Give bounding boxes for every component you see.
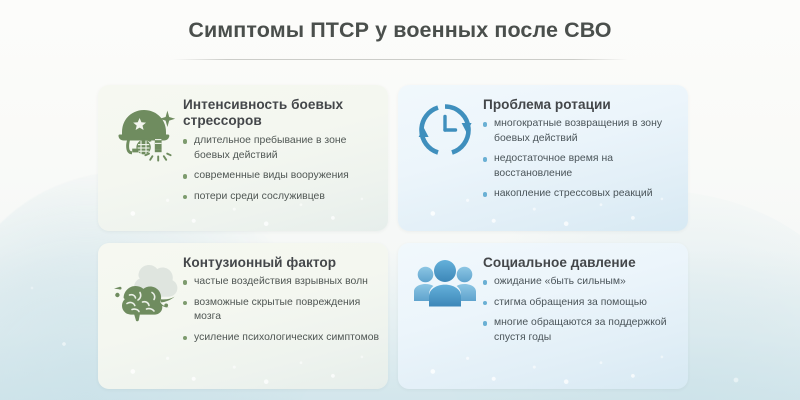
card-social-pressure[interactable]: Социальное давление ожидание «быть сильн… xyxy=(398,243,688,389)
card-heading: Проблема ротации xyxy=(483,97,680,113)
list-item: многие обращаются за поддержкой спустя г… xyxy=(483,316,680,345)
clock-rotation-icon xyxy=(407,95,483,171)
brain-blast-icon xyxy=(107,253,183,329)
card-heading: Контузионный фактор xyxy=(183,255,380,271)
card-body: Контузионный фактор частые воздействия в… xyxy=(183,253,380,345)
list-item: частые воздействия взрывных волн xyxy=(183,275,380,290)
military-helmet-icon xyxy=(107,95,183,171)
card-combat-stressors[interactable]: Интенсивность боевых стрессоров длительн… xyxy=(98,85,388,231)
list-item: многократные возвращения в зону боевых д… xyxy=(483,117,680,146)
list-item: недостаточное время на восстановление xyxy=(483,152,680,181)
card-body: Проблема ротации многократные возвращени… xyxy=(483,95,680,202)
page-title: Симптомы ПТСР у военных после СВО xyxy=(0,18,800,43)
card-body: Социальное давление ожидание «быть сильн… xyxy=(483,253,680,345)
list-item: накопление стрессовых реакций xyxy=(483,187,680,202)
people-group-icon xyxy=(407,253,483,329)
card-bullet-list: ожидание «быть сильным» стигма обращения… xyxy=(483,275,680,345)
card-body: Интенсивность боевых стрессоров длительн… xyxy=(183,95,380,204)
list-item: потери среди сослуживцев xyxy=(183,190,380,205)
list-item: возможные скрытые повреждения мозга xyxy=(183,296,380,325)
card-bullet-list: многократные возвращения в зону боевых д… xyxy=(483,117,680,202)
card-heading: Интенсивность боевых стрессоров xyxy=(183,97,380,129)
slide-header: Симптомы ПТСР у военных после СВО xyxy=(0,0,800,68)
card-rotation-problem[interactable]: Проблема ротации многократные возвращени… xyxy=(398,85,688,231)
slide-canvas: Симптомы ПТСР у военных после СВО xyxy=(0,0,800,400)
card-heading: Социальное давление xyxy=(483,255,680,271)
list-item: ожидание «быть сильным» xyxy=(483,275,680,290)
cards-grid: Интенсивность боевых стрессоров длительн… xyxy=(98,85,698,389)
card-bullet-list: длительное пребывание в зоне боевых дейс… xyxy=(183,134,380,204)
list-item: длительное пребывание в зоне боевых дейс… xyxy=(183,134,380,163)
card-bullet-list: частые воздействия взрывных волн возможн… xyxy=(183,275,380,345)
card-concussion-factor[interactable]: Контузионный фактор частые воздействия в… xyxy=(98,243,388,389)
list-item: стигма обращения за помощью xyxy=(483,296,680,311)
list-item: усиление психологических симптомов xyxy=(183,331,380,346)
list-item: современные виды вооружения xyxy=(183,169,380,184)
title-divider xyxy=(172,59,628,60)
